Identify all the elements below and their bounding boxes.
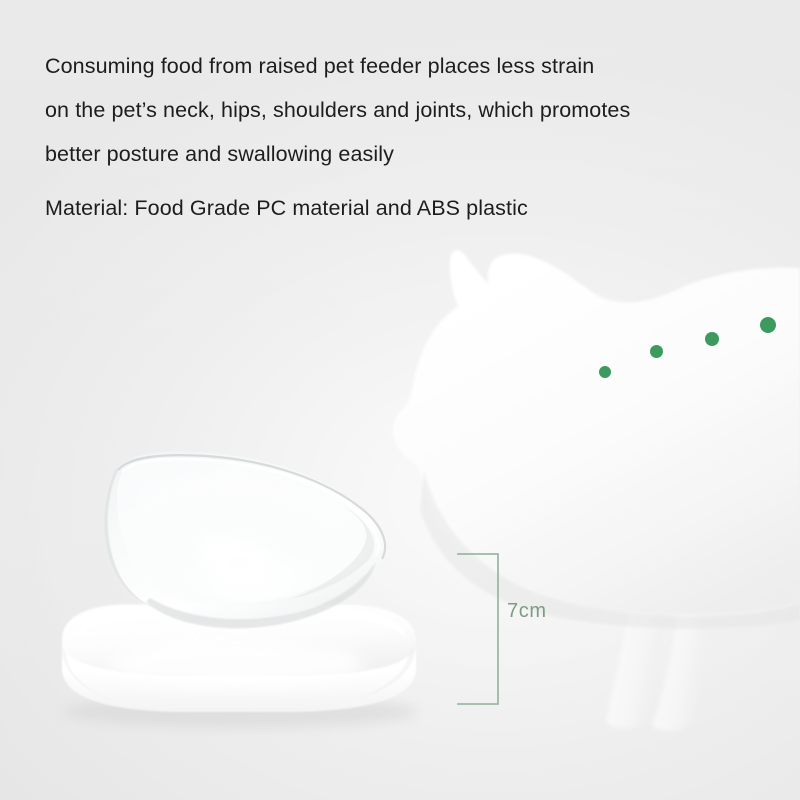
marketing-copy-block: Consuming food from raised pet feeder pl… bbox=[45, 44, 745, 224]
dimension-bracket-icon bbox=[458, 554, 498, 704]
height-dimension-annotation: 7cm bbox=[455, 548, 585, 713]
benefit-line-2: on the pet’s neck, hips, shoulders and j… bbox=[45, 88, 745, 132]
product-image-canvas: 7cm Consuming food from raised pet feede… bbox=[0, 0, 800, 800]
benefit-line-3: better posture and swallowing easily bbox=[45, 132, 745, 176]
feeder-bowl bbox=[104, 452, 385, 629]
material-line: Material: Food Grade PC material and ABS… bbox=[45, 192, 745, 224]
dimension-label: 7cm bbox=[507, 600, 547, 623]
benefit-line-1: Consuming food from raised pet feeder pl… bbox=[45, 44, 745, 88]
